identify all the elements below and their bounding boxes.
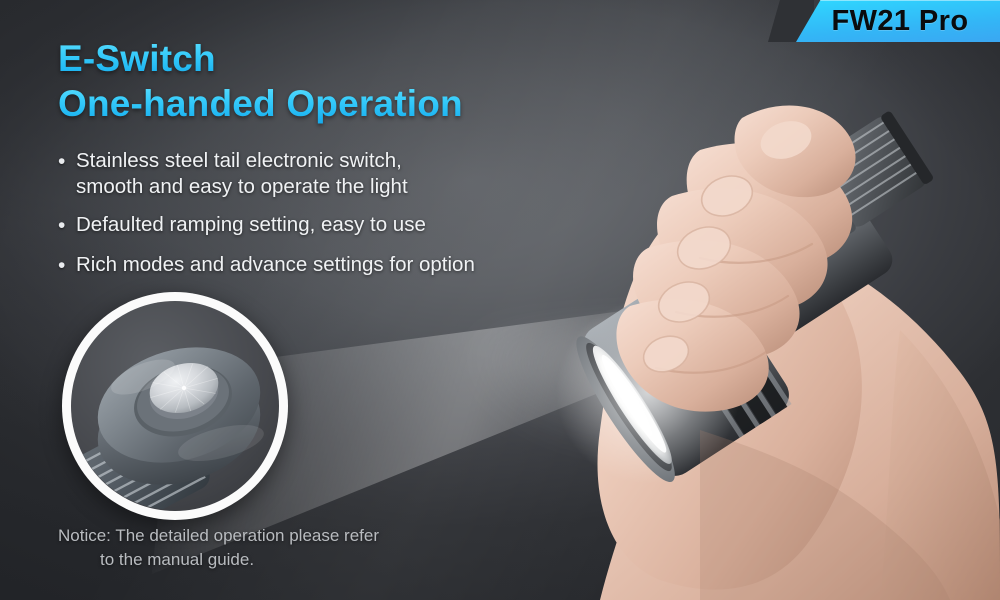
list-item: • Rich modes and advance settings for op… (58, 252, 618, 280)
tail-switch-closeup-inset (62, 292, 288, 520)
bullet-marker-icon: • (58, 252, 76, 280)
page-title: E-Switch One-handed Operation (58, 36, 678, 126)
product-name-badge: FW21 Pro (768, 0, 1000, 42)
list-item-text: Stainless steel tail electronic switch, … (76, 148, 408, 200)
list-item: • Defaulted ramping setting, easy to use (58, 212, 618, 240)
list-item-text: Rich modes and advance settings for opti… (76, 252, 475, 278)
product-marketing-banner: FW21 Pro E-Switch One-handed Operation •… (0, 0, 1000, 600)
bullet-marker-icon: • (58, 148, 76, 176)
inset-content (71, 301, 279, 511)
headline-line-1: E-Switch (58, 36, 678, 81)
notice-text: Notice: The detailed operation please re… (58, 524, 488, 572)
bullet-marker-icon: • (58, 212, 76, 240)
headline-line-2: One-handed Operation (58, 81, 678, 126)
list-item-line-1: Stainless steel tail electronic switch, (76, 149, 402, 172)
tail-cap-illustration (71, 301, 279, 511)
list-item: • Stainless steel tail electronic switch… (58, 148, 618, 200)
notice-line-2: to the manual guide. (58, 548, 488, 572)
feature-list: • Stainless steel tail electronic switch… (58, 148, 618, 292)
list-item-line-1: Defaulted ramping setting, easy to use (76, 213, 426, 236)
list-item-text: Defaulted ramping setting, easy to use (76, 212, 426, 238)
notice-line-1: Notice: The detailed operation please re… (58, 526, 379, 545)
badge-label: FW21 Pro (812, 0, 988, 42)
list-item-line-2: smooth and easy to operate the light (76, 174, 408, 200)
list-item-line-1: Rich modes and advance settings for opti… (76, 253, 475, 276)
